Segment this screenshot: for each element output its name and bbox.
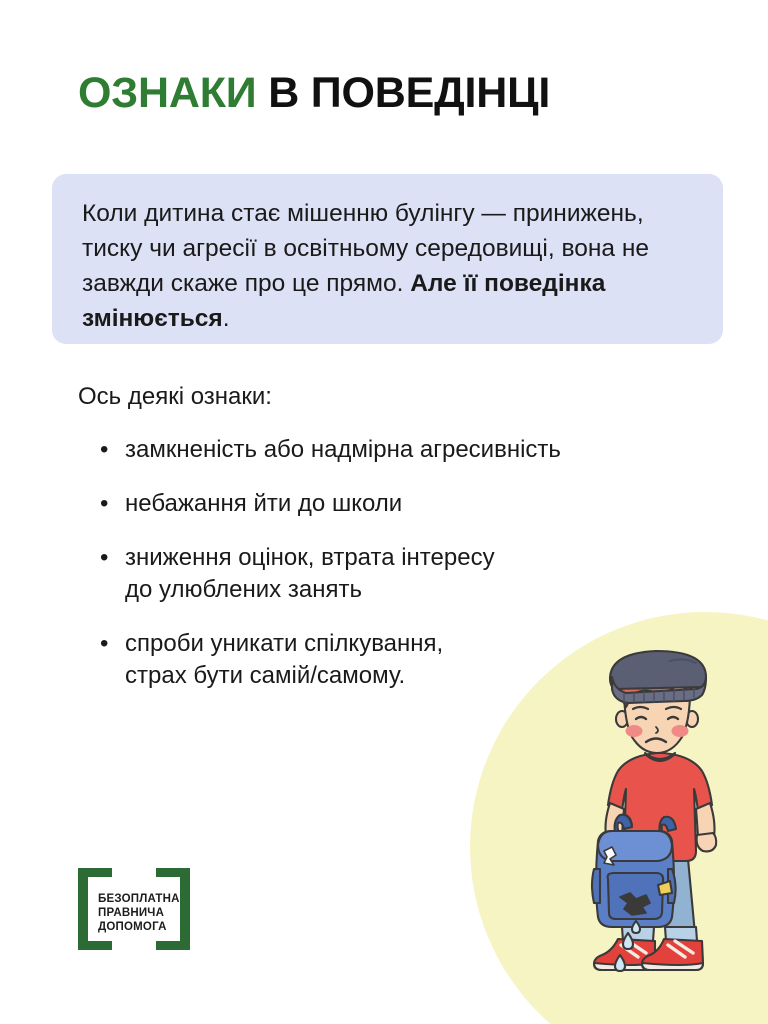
poster-root: ОЗНАКИ В ПОВЕДІНЦІ Коли дитина стає міше… [0,0,768,1024]
logo-line-1: БЕЗОПЛАТНА [98,893,180,905]
logo-line-2: ПРАВНИЧА [98,907,164,919]
beanie [610,651,706,689]
callout-period: . [223,305,230,332]
hand-right [697,833,717,851]
bullet-dot-icon: • [100,434,108,466]
list-item: • небажання йти до школи [96,488,696,520]
list-item-line1: спроби уникати спілкування, [125,630,443,657]
page-title-green: ОЗНАКИ [78,69,256,117]
logo-line-3: ДОПОМОГА [98,921,167,933]
list-item-line1: зниження оцінок, втрата інтересу [125,544,495,571]
backpack [592,815,676,927]
sad-boy-illustration [566,645,746,985]
list-item-line1: небажання йти до школи [125,490,402,517]
list-item: • замкненість або надмірна агресивність [96,434,696,466]
bullet-dot-icon: • [100,628,108,660]
bullet-dot-icon: • [100,488,108,520]
callout-box: Коли дитина стає мішенню булінгу — прини… [52,174,723,344]
list-item-line1: замкненість або надмірна агресивність [125,436,561,463]
bullet-dot-icon: • [100,542,108,574]
list-item: • зниження оцінок, втрата інтересу до ул… [96,542,696,606]
head [610,651,706,753]
legal-aid-logo: БЕЗОПЛАТНА ПРАВНИЧА ДОПОМОГА [78,868,190,950]
list-item-line2: до улюблених занять [125,574,696,606]
intro-text: Ось деякі ознаки: [78,381,272,413]
page-title-black: В ПОВЕДІНЦІ [256,69,550,117]
page-title: ОЗНАКИ В ПОВЕДІНЦІ [78,70,550,117]
callout-text: Коли дитина стає мішенню булінгу — прини… [82,196,697,336]
